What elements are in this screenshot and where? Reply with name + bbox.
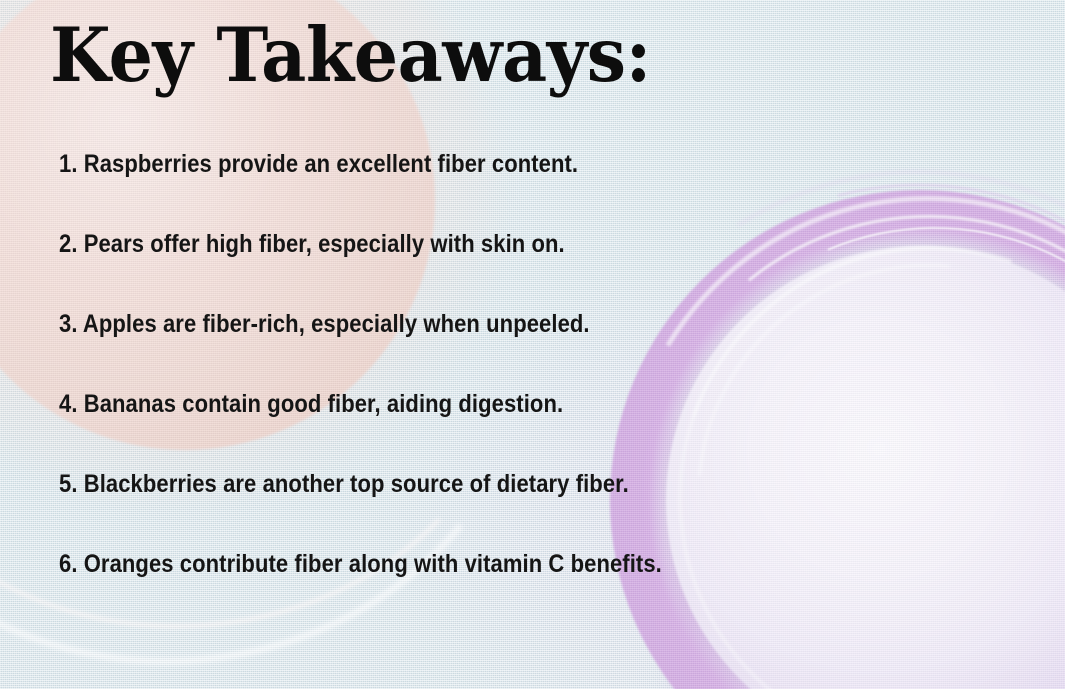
takeaways-list: 1. Raspberries provide an excellent fibe… — [59, 152, 744, 577]
slide-content: Key Takeaways: 1. Raspberries provide an… — [0, 0, 1065, 689]
list-item: 3. Apples are fiber-rich, especially whe… — [59, 312, 662, 337]
list-item: 6. Oranges contribute fiber along with v… — [59, 552, 662, 577]
list-item: 5. Blackberries are another top source o… — [59, 472, 662, 497]
list-item: 1. Raspberries provide an excellent fibe… — [59, 152, 662, 177]
list-item: 2. Pears offer high fiber, especially wi… — [59, 232, 662, 257]
list-item: 4. Bananas contain good fiber, aiding di… — [59, 392, 662, 417]
key-takeaways-slide: Key Takeaways: 1. Raspberries provide an… — [0, 0, 1065, 689]
page-title: Key Takeaways: — [50, 18, 651, 93]
